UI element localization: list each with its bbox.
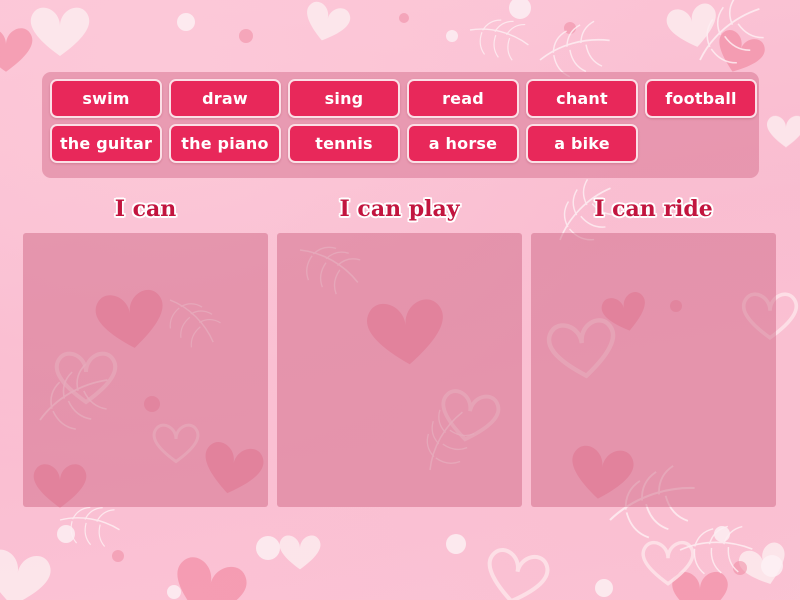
- word-tile[interactable]: swim: [50, 79, 162, 118]
- category-column-i-can: I can: [23, 196, 268, 507]
- word-bank-panel: swim draw sing read chant football the g…: [42, 72, 759, 178]
- word-bank-row-2: the guitar the piano tennis a horse a bi…: [50, 124, 751, 163]
- column-title: I can ride: [594, 196, 713, 222]
- column-title: I can play: [339, 196, 459, 222]
- activity-stage: swim draw sing read chant football the g…: [0, 0, 800, 600]
- word-tile[interactable]: draw: [169, 79, 281, 118]
- word-tile[interactable]: the piano: [169, 124, 281, 163]
- column-title: I can: [115, 196, 177, 222]
- word-tile[interactable]: read: [407, 79, 519, 118]
- category-column-i-can-play: I can play: [277, 196, 522, 507]
- word-tile[interactable]: a horse: [407, 124, 519, 163]
- word-tile[interactable]: tennis: [288, 124, 400, 163]
- word-tile[interactable]: chant: [526, 79, 638, 118]
- category-column-i-can-ride: I can ride: [531, 196, 776, 507]
- word-tile[interactable]: a bike: [526, 124, 638, 163]
- category-columns: I can I can play I can ride: [23, 196, 776, 507]
- word-bank-row-1: swim draw sing read chant football: [50, 79, 751, 118]
- word-tile[interactable]: sing: [288, 79, 400, 118]
- drop-zone-i-can-play[interactable]: [277, 233, 522, 507]
- drop-zone-i-can-ride[interactable]: [531, 233, 776, 507]
- word-tile[interactable]: the guitar: [50, 124, 162, 163]
- drop-zone-i-can[interactable]: [23, 233, 268, 507]
- word-tile[interactable]: football: [645, 79, 757, 118]
